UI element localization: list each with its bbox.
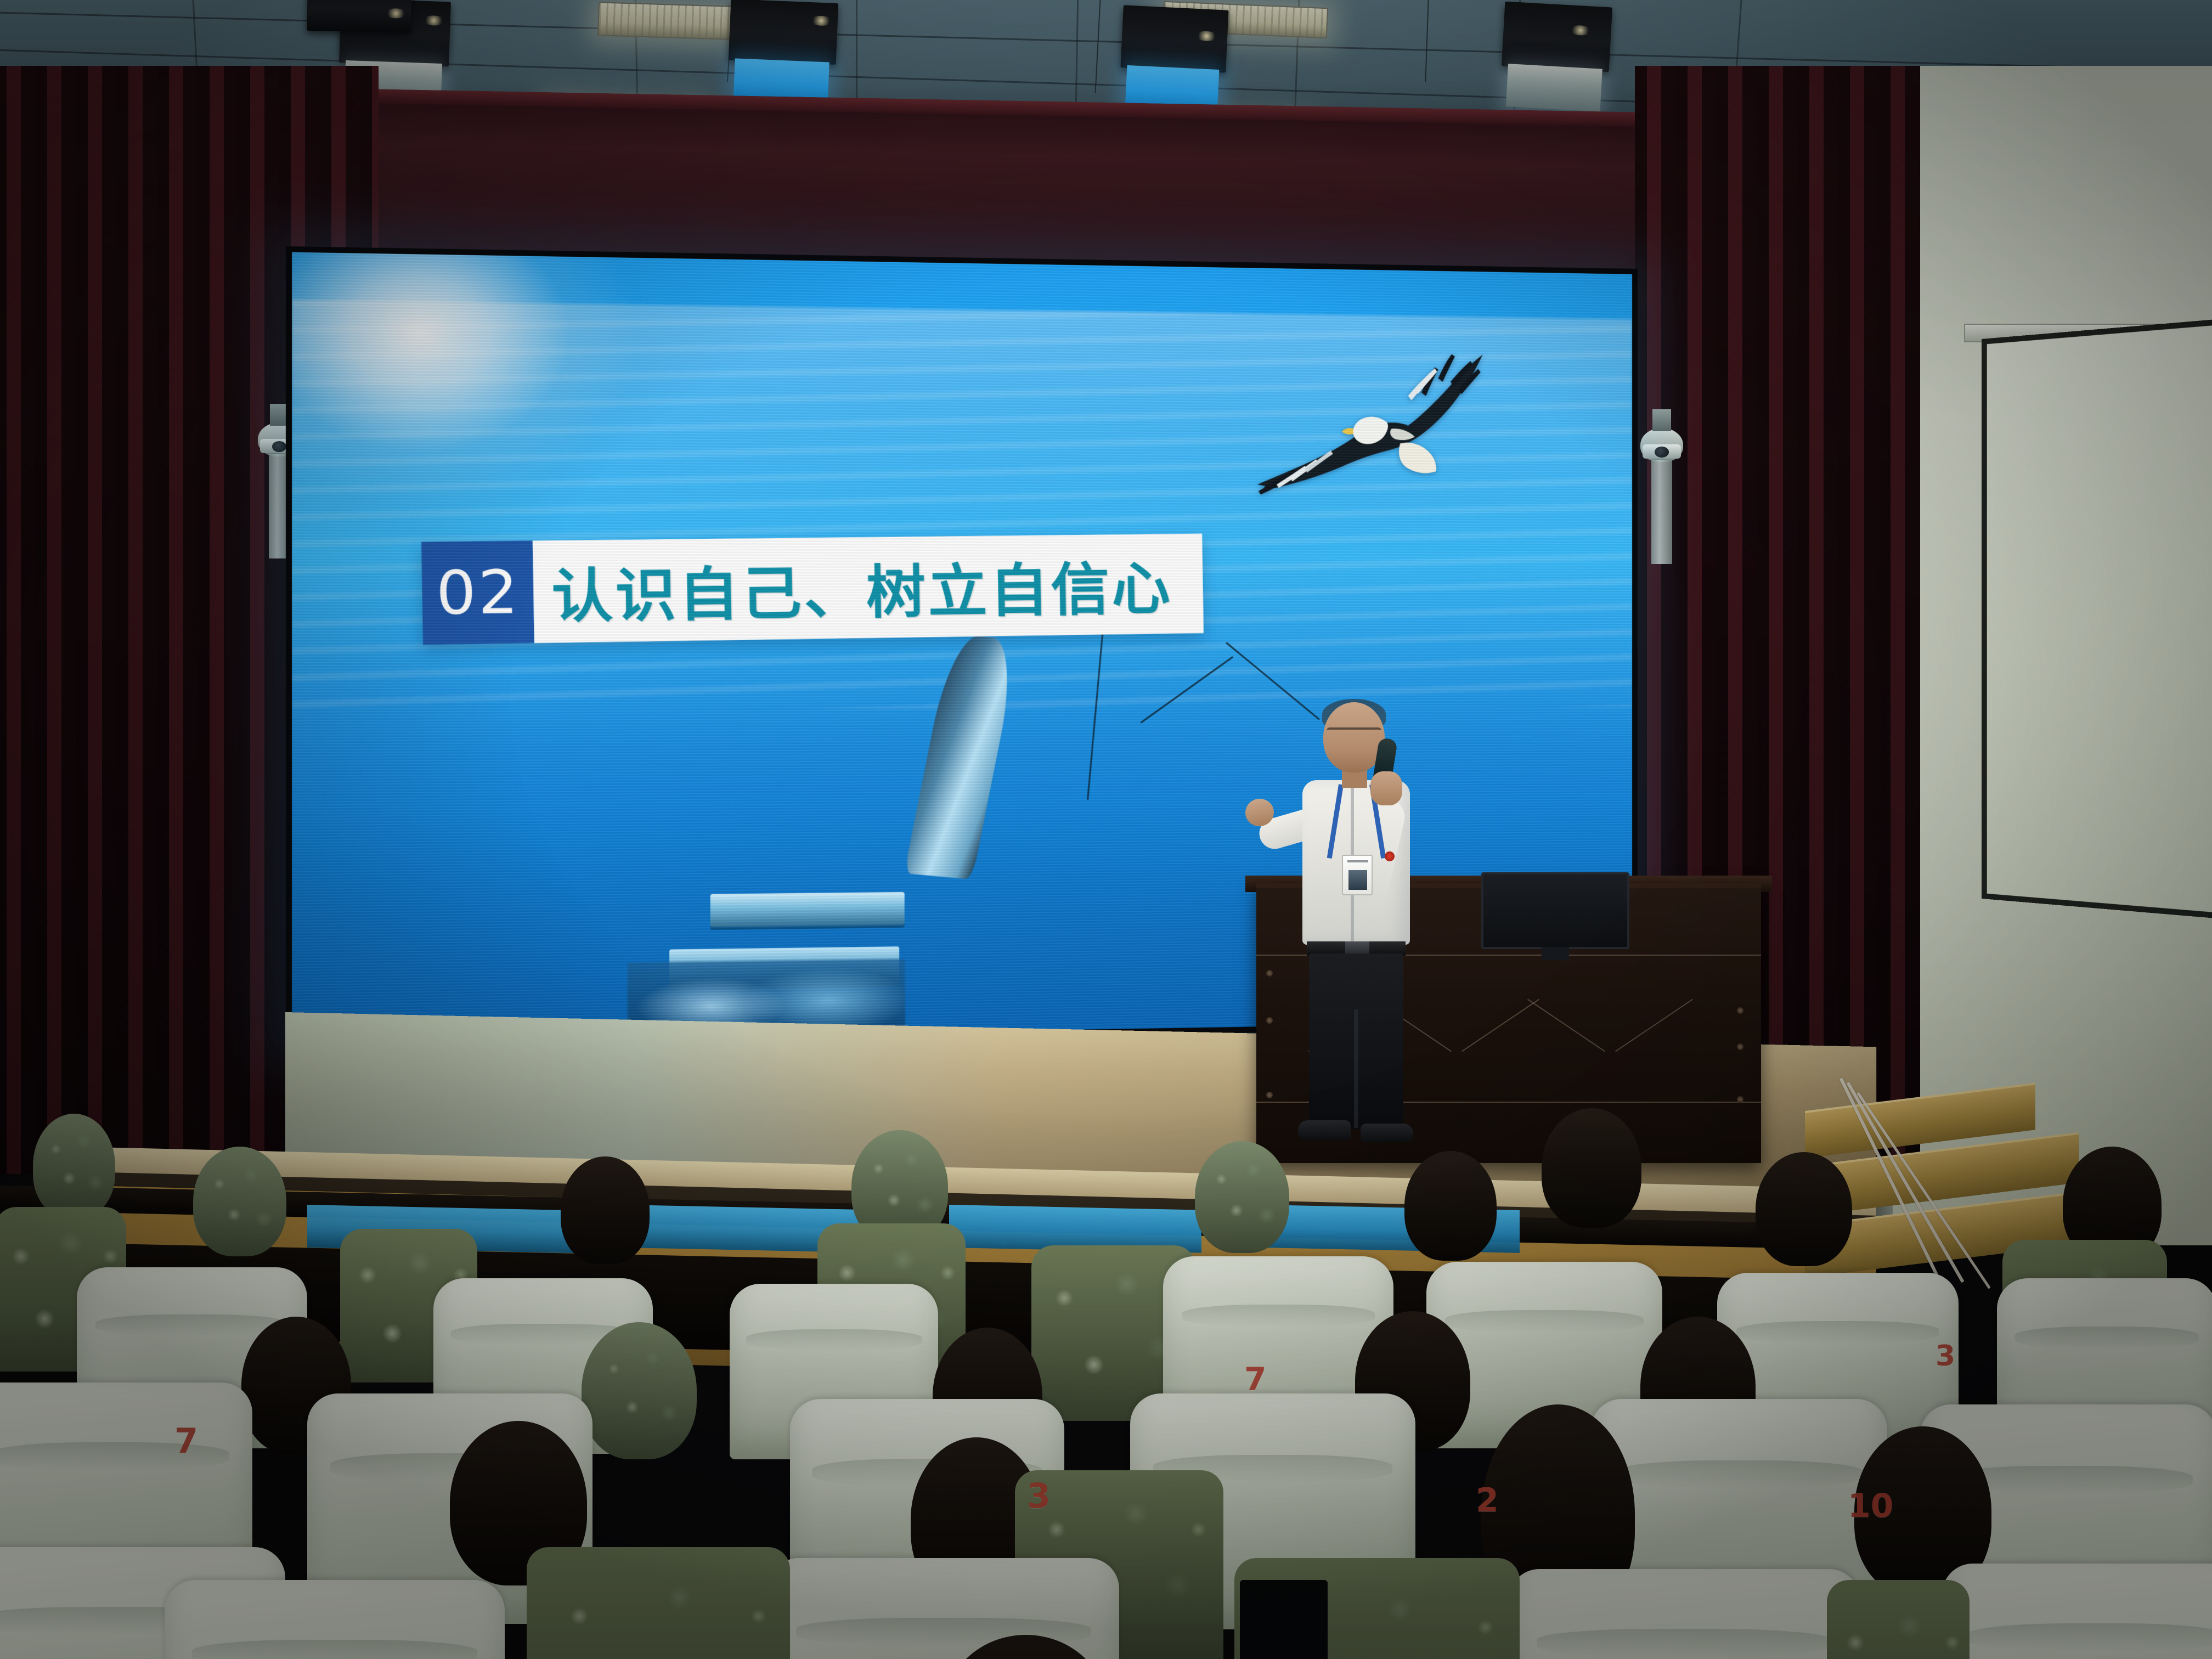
eagle-icon (1252, 344, 1493, 513)
seat-gap (1240, 1580, 1328, 1659)
audience-head (33, 1114, 115, 1218)
audience-chair (768, 1558, 1119, 1659)
audience-chair (1509, 1569, 1860, 1659)
audience-head (561, 1156, 650, 1264)
audience-uniform (527, 1547, 790, 1659)
auditorium-photo: 02 认识自己、树立自信心 (0, 0, 2212, 1659)
audience-head (193, 1147, 286, 1256)
confidence-monitor (1481, 872, 1629, 949)
seat-number: 3 (1936, 1340, 1955, 1373)
stage-spotlight (729, 0, 839, 65)
glasses-icon (1327, 727, 1381, 736)
presenter-shoe (1361, 1124, 1413, 1142)
audience-head (1542, 1108, 1641, 1228)
seat-number: 7 (1244, 1361, 1266, 1398)
audience-uniform (1827, 1580, 1970, 1659)
audience-head (1195, 1141, 1289, 1253)
audience-head (582, 1322, 697, 1459)
seat-number: 3 (1027, 1476, 1051, 1516)
presenter-right-hand (1370, 771, 1402, 805)
stage-spotlight (1502, 2, 1612, 72)
presenter (1262, 702, 1443, 1141)
seat-number: 10 (1848, 1487, 1894, 1525)
stage-spotlight (307, 0, 412, 33)
monitor-stand (1542, 947, 1569, 960)
stage-spotlight (1120, 5, 1228, 72)
audience-seating: 7372103 (0, 1163, 2212, 1659)
seat-number: 7 (174, 1421, 198, 1461)
projection-screen (1982, 319, 2212, 919)
slide-title-banner: 02 认识自己、树立自信心 (421, 534, 1203, 645)
presenter-shoe (1298, 1120, 1351, 1140)
slide-title-text: 认识自己、树立自信心 (532, 534, 1203, 643)
lapel-pin-icon (1385, 851, 1395, 861)
audience-head (1404, 1151, 1497, 1261)
pedestal-upper (710, 892, 905, 927)
id-badge (1342, 855, 1373, 895)
audience-chair (165, 1580, 505, 1659)
ptz-dome-camera-icon (1640, 428, 1683, 462)
audience-chair (1942, 1564, 2212, 1659)
seat-number: 2 (1476, 1481, 1499, 1520)
slide-section-number: 02 (421, 540, 534, 645)
audience-head (1756, 1152, 1852, 1266)
